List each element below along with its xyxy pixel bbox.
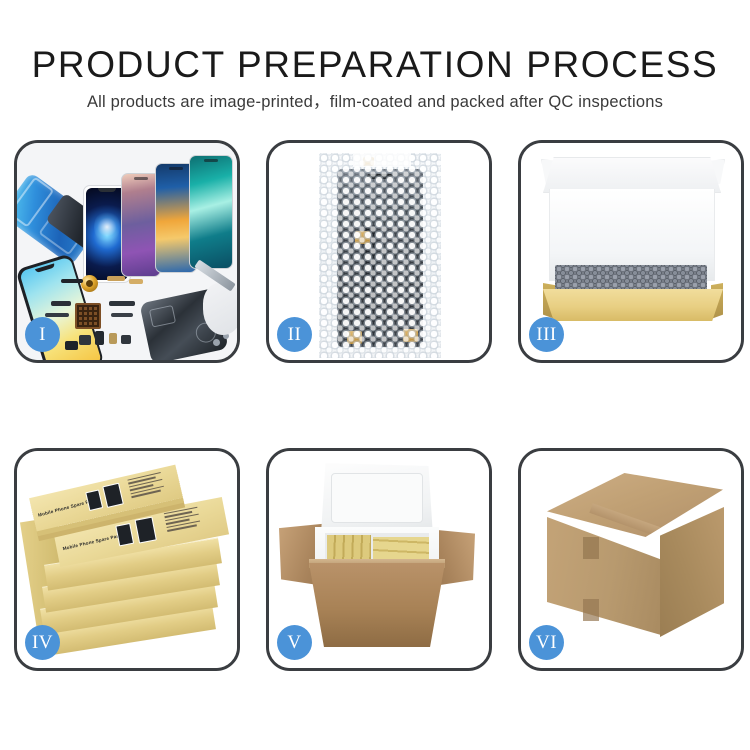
step-panel-2: II bbox=[266, 140, 492, 363]
taptic-coil-part bbox=[81, 275, 98, 292]
flex-cable-part bbox=[51, 301, 71, 306]
small-component bbox=[121, 335, 131, 344]
bubble-wrap-bag bbox=[319, 153, 441, 358]
flex-cable-part bbox=[61, 279, 83, 283]
small-component bbox=[95, 331, 104, 345]
bubble-texture bbox=[319, 153, 441, 358]
technician-hand bbox=[203, 283, 240, 335]
small-component bbox=[79, 335, 91, 345]
step-badge-4: IV bbox=[25, 625, 60, 660]
step-badge-2: II bbox=[277, 317, 312, 352]
bag-seal-tape bbox=[353, 153, 411, 167]
small-component bbox=[65, 341, 78, 350]
steps-grid: I II bbox=[14, 140, 736, 720]
foam-box-lid bbox=[321, 463, 433, 537]
flex-cable-part bbox=[109, 301, 135, 306]
page-subtitle: All products are image-printed，film-coat… bbox=[0, 88, 750, 112]
carton-right-face bbox=[660, 507, 724, 637]
step-badge-1: I bbox=[25, 317, 60, 352]
step-panel-3: III bbox=[518, 140, 744, 363]
flex-cable-part bbox=[111, 313, 133, 317]
box-label-text: Mobile Phone Spare Parts bbox=[62, 533, 123, 552]
box-front-panel bbox=[543, 289, 723, 321]
foam-padding bbox=[555, 265, 707, 293]
flex-cable-part bbox=[45, 313, 69, 317]
step-panel-4: Mobile Phone Spare Parts Mobile Phone Sp… bbox=[14, 448, 240, 671]
gold-connector-part bbox=[107, 276, 125, 281]
step-panel-6: VI bbox=[518, 448, 744, 671]
carton-handle-cut bbox=[583, 537, 599, 559]
small-component bbox=[109, 333, 117, 344]
carton-handle-cut bbox=[583, 599, 599, 621]
step-panel-5: V bbox=[266, 448, 492, 671]
phone-teal bbox=[189, 155, 233, 269]
carton-body bbox=[309, 563, 445, 647]
header: PRODUCT PREPARATION PROCESS All products… bbox=[0, 0, 750, 120]
gold-connector-part bbox=[129, 279, 143, 284]
screw-part bbox=[213, 339, 220, 346]
step-panel-1: I bbox=[14, 140, 240, 363]
box-lid-back bbox=[543, 157, 721, 193]
logic-board-part bbox=[75, 303, 101, 329]
step-badge-5: V bbox=[277, 625, 312, 660]
product-preparation-infographic: PRODUCT PREPARATION PROCESS All products… bbox=[0, 0, 750, 750]
step-badge-3: III bbox=[529, 317, 564, 352]
page-title: PRODUCT PREPARATION PROCESS bbox=[0, 44, 750, 86]
step-badge-6: VI bbox=[529, 625, 564, 660]
